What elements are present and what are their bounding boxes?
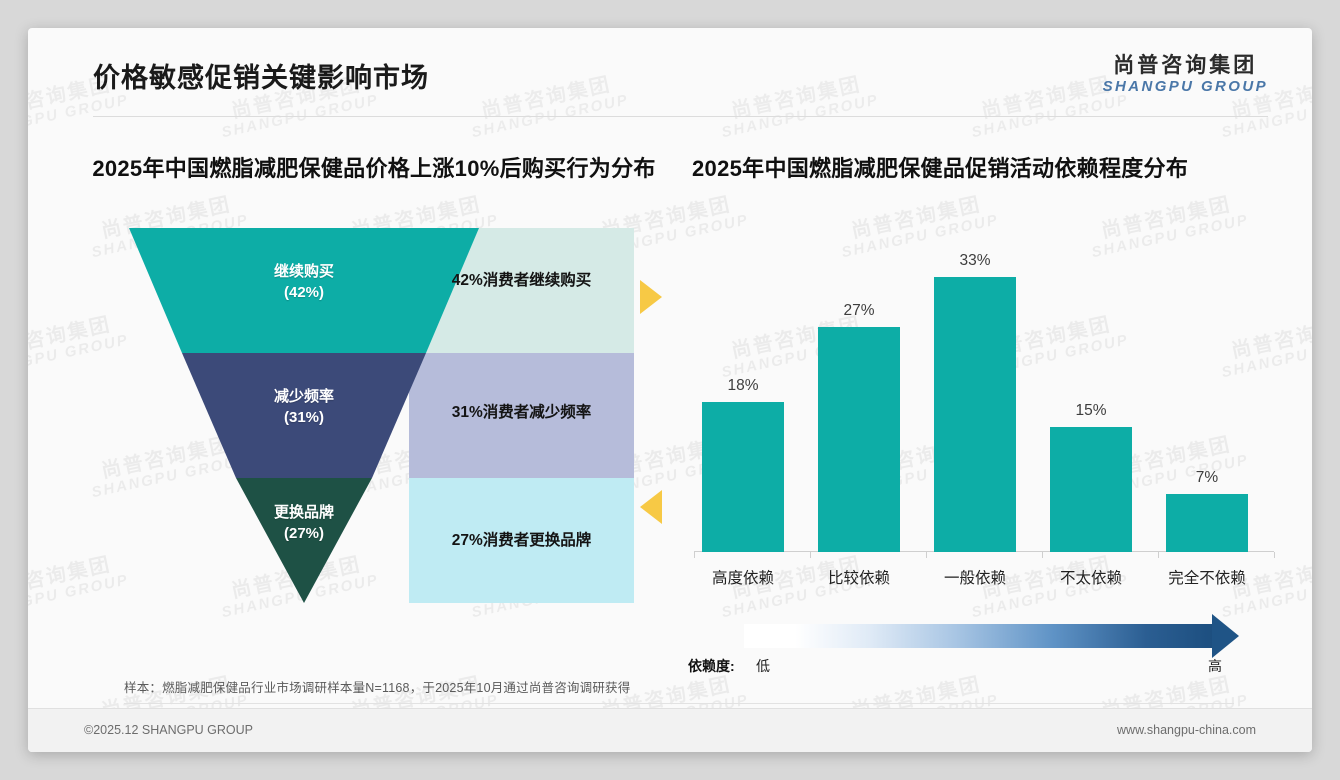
logo-chinese-text: 尚普咨询集团 [1103,54,1268,78]
left-chart-title: 2025年中国燃脂减肥保健品价格上涨10%后购买行为分布 [64,138,684,184]
bar-value-label: 33% [959,252,990,270]
legend-low-label: 低 [756,656,770,676]
triangle-right-icon [640,280,662,314]
funnel-panel-text-0: 42%消费者继续购买 [409,268,634,290]
bar-value-label: 18% [727,377,758,395]
axis-tick [1158,552,1159,558]
logo-english-text: SHANGPU GROUP [1103,78,1268,95]
sample-note: 样本：燃脂减肥保健品行业市场调研样本量N=1168，于2025年10月通过尚普咨… [124,677,630,696]
right-chart-panel: 2025年中国燃脂减肥保健品促销活动依赖程度分布 18%高度依赖27%比较依赖3… [688,138,1284,698]
right-chart-title: 2025年中国燃脂减肥保健品促销活动依赖程度分布 [688,138,1284,184]
legend-high-label: 高 [1208,656,1222,676]
bar-value-label: 27% [843,302,874,320]
funnel-panel-text-2: 27%消费者更换品牌 [409,528,634,550]
bar-rect[interactable] [702,402,784,552]
copyright-text: ©2025.12 SHANGPU GROUP [84,723,253,737]
bar-category-label: 高度依赖 [678,566,808,588]
funnel-stage-label-1: 减少频率 (31%) [239,387,369,428]
axis-tick [1274,552,1275,558]
bar-rect[interactable] [1050,427,1132,552]
footer-divider [124,703,1234,704]
triangle-left-icon [640,490,662,524]
brand-logo: 尚普咨询集团 SHANGPU GROUP [1103,54,1268,95]
gradient-bar [744,624,1212,648]
slide-header: 价格敏感促销关键影响市场 尚普咨询集团 SHANGPU GROUP [28,28,1312,118]
slide-footer: ©2025.12 SHANGPU GROUP www.shangpu-china… [28,708,1312,752]
bar-chart: 18%高度依赖27%比较依赖33%一般依赖15%不太依赖7%完全不依赖 [688,210,1284,630]
left-chart-panel: 2025年中国燃脂减肥保健品价格上涨10%后购买行为分布 继续购买 (42%) … [64,138,684,698]
bar-column[interactable]: 27% [818,302,900,552]
bar-category-label: 一般依赖 [910,566,1040,588]
funnel-stage-label-0: 继续购买 (42%) [239,262,369,303]
bar-category-label: 比较依赖 [794,566,924,588]
bar-column[interactable]: 18% [702,377,784,552]
axis-tick [926,552,927,558]
header-divider [93,116,1268,117]
bar-value-label: 7% [1196,469,1218,487]
bar-value-label: 15% [1075,402,1106,420]
slide-canvas: 尚普咨询集团SHANGPU GROUP尚普咨询集团SHANGPU GROUP尚普… [28,28,1312,752]
website-link[interactable]: www.shangpu-china.com [1117,723,1256,737]
bar-rect[interactable] [934,277,1016,552]
arrow-head-icon [1212,614,1239,658]
dependency-gradient-legend: 依赖度: 低 高 [688,618,1284,688]
axis-tick [694,552,695,558]
bar-rect[interactable] [818,327,900,552]
funnel-chart: 继续购买 (42%) 减少频率 (31%) 更换品牌 (27%) 42%消费者继… [64,220,684,620]
page-title: 价格敏感促销关键影响市场 [93,56,429,95]
bar-column[interactable]: 7% [1166,469,1248,552]
funnel-panel-text-1: 31%消费者减少频率 [409,400,634,422]
bar-column[interactable]: 33% [934,252,1016,552]
bar-column[interactable]: 15% [1050,402,1132,552]
axis-tick [810,552,811,558]
funnel-stage-label-2: 更换品牌 (27%) [239,503,369,544]
bar-category-label: 不太依赖 [1026,566,1156,588]
axis-tick [1042,552,1043,558]
bar-category-label: 完全不依赖 [1142,566,1272,588]
bar-rect[interactable] [1166,494,1248,552]
legend-caption: 依赖度: [688,656,735,676]
